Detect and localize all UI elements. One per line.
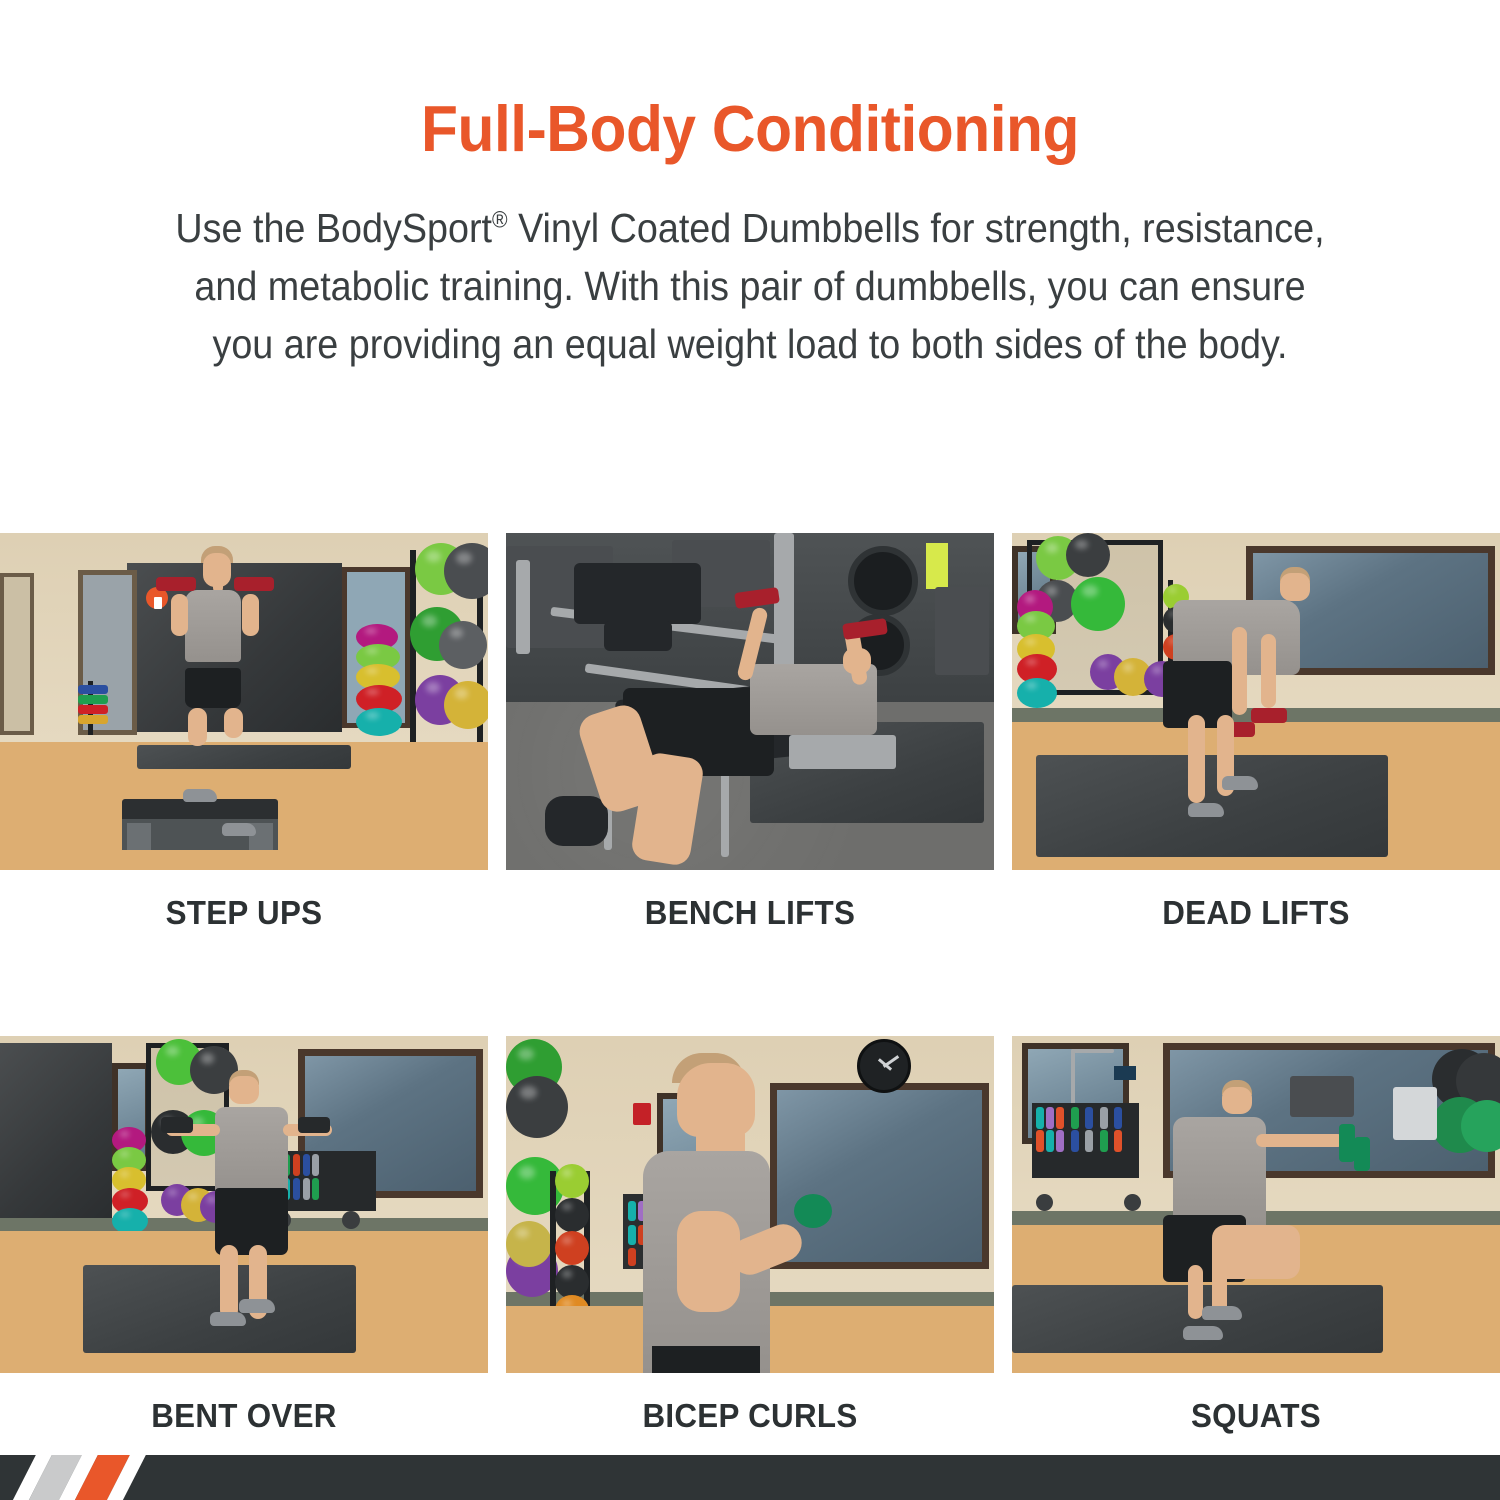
exercise-card-dead-lifts[interactable]: DEAD LIFTS [1012, 533, 1500, 932]
exercise-caption: SQUATS [1024, 1397, 1488, 1435]
page-title: Full-Body Conditioning [53, 96, 1448, 161]
exercise-card-squats[interactable]: SQUATS [1012, 1036, 1500, 1435]
exercise-photo-bent-over [0, 1036, 488, 1373]
exercise-caption: STEP UPS [12, 894, 476, 932]
exercise-caption: BENT OVER [12, 1397, 476, 1435]
intro-text-part1: Use the BodySport [175, 205, 492, 251]
exercise-row-2: BENT OVER [0, 1036, 1500, 1435]
footer-bar [0, 1455, 1500, 1500]
exercise-photo-bench-lifts [506, 533, 994, 870]
exercise-caption: DEAD LIFTS [1024, 894, 1488, 932]
exercise-photo-squats [1012, 1036, 1500, 1373]
exercise-photo-step-ups [0, 533, 488, 870]
exercise-card-bench-lifts[interactable]: BENCH LIFTS [506, 533, 994, 932]
exercise-caption: BICEP CURLS [518, 1397, 982, 1435]
exercise-photo-bicep-curls [506, 1036, 994, 1373]
intro-paragraph: Use the BodySport® Vinyl Coated Dumbbell… [170, 199, 1329, 374]
exercise-card-step-ups[interactable]: STEP UPS [0, 533, 488, 932]
exercise-row-1: STEP UPS [0, 533, 1500, 932]
exercise-caption: BENCH LIFTS [518, 894, 982, 932]
exercise-card-bent-over[interactable]: BENT OVER [0, 1036, 488, 1435]
registered-trademark-symbol: ® [492, 206, 508, 232]
exercise-card-bicep-curls[interactable]: BICEP CURLS [506, 1036, 994, 1435]
exercise-photo-dead-lifts [1012, 533, 1500, 870]
exercise-grid: STEP UPS [0, 533, 1500, 1435]
header: Full-Body Conditioning Use the BodySport… [0, 0, 1500, 374]
